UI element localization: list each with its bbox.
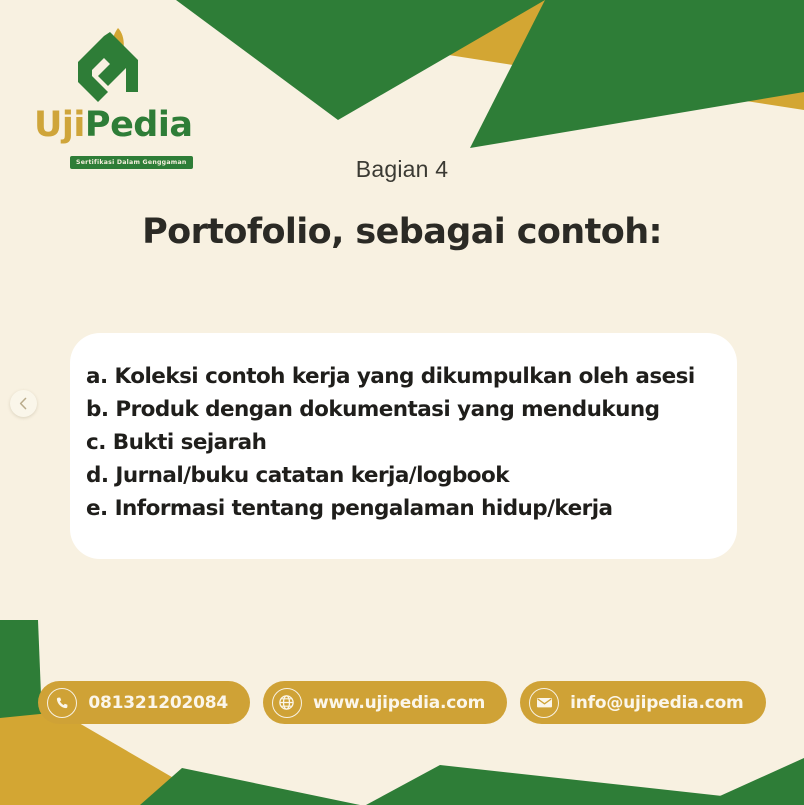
chevron-left-icon xyxy=(18,397,29,410)
green-shape-bottom-center xyxy=(140,768,360,805)
logo-word-uji: Uji xyxy=(34,105,85,145)
brand-logo: UjiPedia Sertifikasi Dalam Genggaman xyxy=(34,26,184,154)
contact-pill-email[interactable]: info@ujipedia.com xyxy=(520,681,765,724)
slide-canvas: UjiPedia Sertifikasi Dalam Genggaman Bag… xyxy=(0,0,804,805)
list-item: b. Produk dengan dokumentasi yang menduk… xyxy=(86,393,737,426)
list-item: d. Jurnal/buku catatan kerja/logbook xyxy=(86,459,737,492)
contact-phone-text: 081321202084 xyxy=(88,693,228,713)
portfolio-item-list: a. Koleksi contoh kerja yang dikumpulkan… xyxy=(86,360,737,525)
contact-pill-website[interactable]: www.ujipedia.com xyxy=(263,681,507,724)
prev-slide-button[interactable] xyxy=(10,390,37,417)
contact-bar: 081321202084 www.ujipedia.com xyxy=(0,681,804,724)
green-shape-bottom-right xyxy=(366,765,804,805)
contact-website-text: www.ujipedia.com xyxy=(313,693,485,713)
page-title: Portofolio, sebagai contoh: xyxy=(0,212,804,252)
contact-pill-phone[interactable]: 081321202084 xyxy=(38,681,250,724)
logo-word-pedia: Pedia xyxy=(85,105,193,145)
green-shape-top-left xyxy=(176,0,545,120)
gold-shape-bottom-left xyxy=(0,712,220,805)
green-shape-top-right xyxy=(470,0,804,148)
gold-shape-top-right xyxy=(300,0,804,110)
list-item: e. Informasi tentang pengalaman hidup/ke… xyxy=(86,492,737,525)
logo-wordmark: UjiPedia xyxy=(34,108,184,143)
phone-icon xyxy=(47,688,77,718)
logo-bracket-shape xyxy=(78,32,138,102)
section-kicker: Bagian 4 xyxy=(0,156,804,183)
content-card: a. Koleksi contoh kerja yang dikumpulkan… xyxy=(70,333,737,559)
globe-icon xyxy=(272,688,302,718)
green-shape-bottom-far-right xyxy=(700,758,804,805)
envelope-icon xyxy=(529,688,559,718)
contact-email-text: info@ujipedia.com xyxy=(570,693,743,713)
list-item: c. Bukti sejarah xyxy=(86,426,737,459)
list-item: a. Koleksi contoh kerja yang dikumpulkan… xyxy=(86,360,737,393)
logo-mark-icon xyxy=(64,26,150,108)
